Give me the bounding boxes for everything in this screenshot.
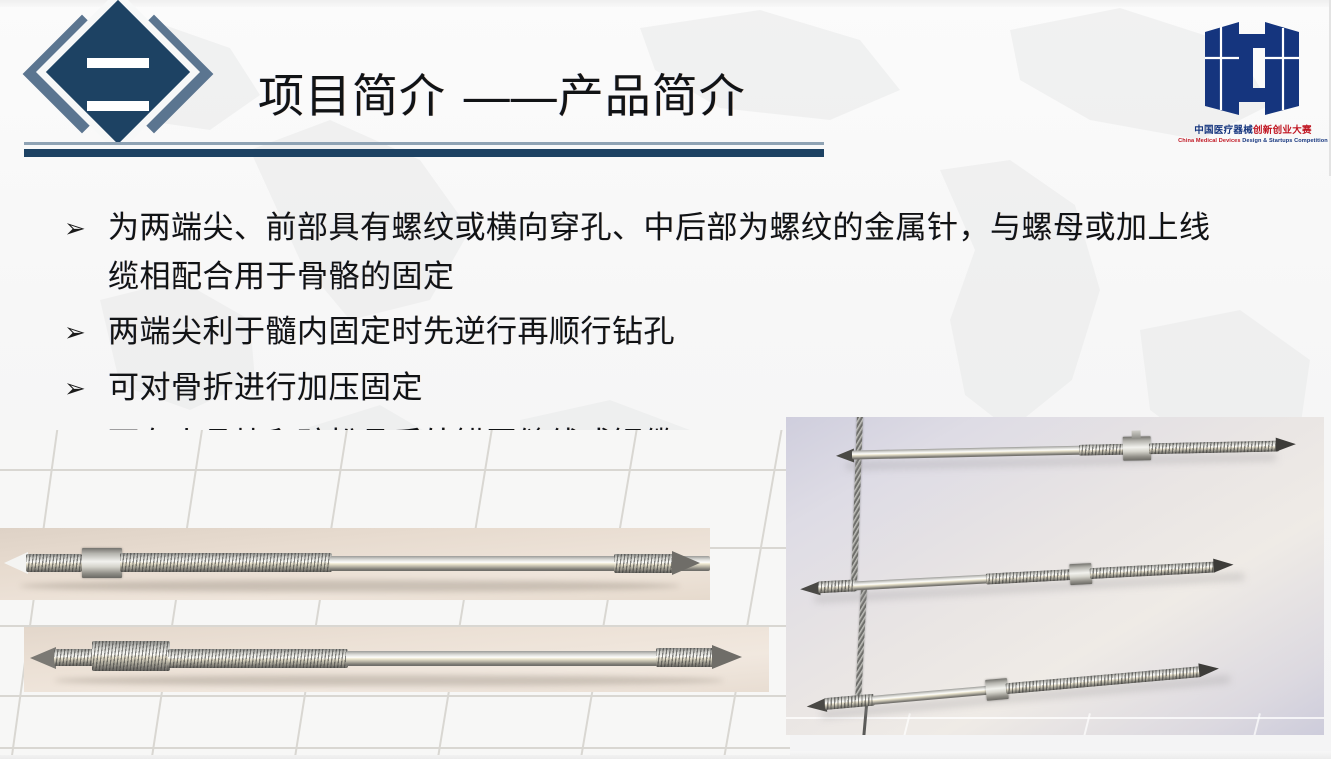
product-photo-pin-threaded <box>24 627 769 692</box>
diamond-bar-top <box>87 58 149 68</box>
title-rule-thin <box>24 142 824 145</box>
pin-front-thread <box>26 554 82 572</box>
competition-name-en: China Medical Devices Design & Startups … <box>1178 138 1328 144</box>
pin-mid-thread <box>120 553 332 572</box>
page-title: 项目简介 ——产品简介 <box>258 60 746 126</box>
project-diamond-logo <box>38 6 198 158</box>
bullet-arrow-icon: ➢ <box>60 307 108 357</box>
pin-row-middle <box>800 555 1271 604</box>
list-item: ➢ 为两端尖、前部具有螺纹或横向穿孔、中后部为螺纹的金属针，与螺母或加上线缆相配… <box>60 203 1240 301</box>
pin-rear-thread <box>614 554 674 573</box>
pin2-smooth-shank <box>346 651 706 666</box>
competition-name-en-blue: Design & Startups Competition <box>1242 138 1328 144</box>
pin2-tip-thread <box>54 649 96 666</box>
title-dash: —— <box>464 70 558 122</box>
bullet-arrow-icon: ➢ <box>60 363 108 413</box>
list-item: ➢ 可对骨折进行加压固定 <box>60 363 1240 413</box>
pin-nut <box>82 548 122 578</box>
product-photo-three-pins-with-cable <box>786 417 1324 735</box>
pin2-left-tip <box>30 647 56 669</box>
pin2-right-tip <box>712 645 742 669</box>
competition-name-cn-red: 创新创业大赛 <box>1253 125 1312 136</box>
title-sub: 产品简介 <box>558 70 746 122</box>
diamond-bar-bottom <box>87 101 149 111</box>
pin-row-bottom <box>806 657 1256 720</box>
product-photo-pin-with-nut <box>0 528 710 600</box>
bullet-text: 可对骨折进行加压固定 <box>108 363 423 412</box>
title-rule-thick <box>24 149 824 157</box>
pin-left-tip <box>4 552 28 574</box>
steel-cable-upper <box>851 417 863 591</box>
pin-row-top <box>836 436 1296 470</box>
bullet-text: 为两端尖、前部具有螺纹或横向穿孔、中后部为螺纹的金属针，与螺母或加上线缆相配合用… <box>108 203 1240 301</box>
bullet-arrow-icon: ➢ <box>60 203 108 253</box>
pin2-mid-thread <box>168 649 348 668</box>
steel-cable-lower <box>855 585 867 705</box>
list-item: ➢ 两端尖利于髓内固定时先逆行再顺行钻孔 <box>60 307 1240 357</box>
competition-name-cn: 中国医疗器械创新创业大赛 <box>1194 126 1312 136</box>
pin-right-tip <box>672 551 700 575</box>
diamond-inner-navy <box>46 0 190 144</box>
competition-logo: 中国医疗器械创新创业大赛 China Medical Devices Desig… <box>1189 18 1317 158</box>
pin2-collar-thread <box>92 641 170 671</box>
presentation-slide: 项目简介 ——产品简介 中国医疗器械创新创业大赛 China Medical D… <box>0 0 1331 759</box>
competition-name-cn-blue: 中国医疗器械 <box>1194 125 1253 136</box>
top-edge-strip <box>0 0 1331 7</box>
title-main: 项目简介 <box>258 70 446 122</box>
open-door-icon <box>1199 18 1307 122</box>
competition-name-en-red: China Medical Devices <box>1178 138 1240 144</box>
pin2-rear-thread <box>656 648 714 667</box>
bullet-text: 两端尖利于髓内固定时先逆行再顺行钻孔 <box>108 307 675 356</box>
